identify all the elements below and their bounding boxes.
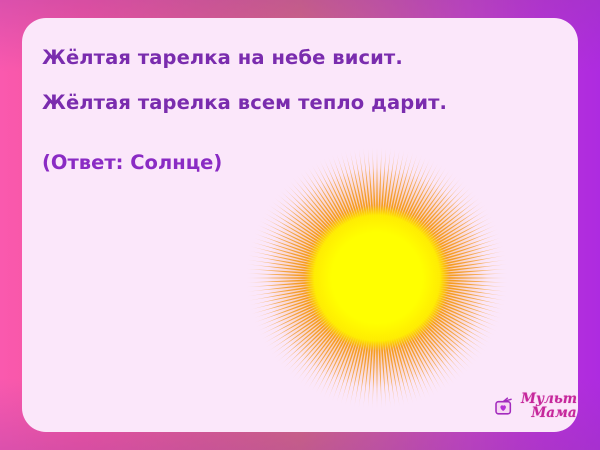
tv-heart-icon [494, 396, 516, 418]
logo-wordmark: Мульти Мама [521, 393, 578, 421]
riddle-line-2: Жёлтая тарелка всем тепло дарит. [42, 93, 512, 113]
content-card: Жёлтая тарелка на небе висит. Жёлтая тар… [22, 18, 578, 432]
riddle-text-block: Жёлтая тарелка на небе висит. Жёлтая тар… [42, 48, 512, 173]
logo-word-2: Мама [531, 407, 576, 421]
riddle-line-1: Жёлтая тарелка на небе висит. [42, 48, 512, 68]
riddle-card-image: Жёлтая тарелка на небе висит. Жёлтая тар… [0, 0, 600, 450]
riddle-answer: (Ответ: Солнце) [42, 153, 512, 173]
sun-illustration [245, 145, 509, 411]
brand-logo[interactable]: Мульти Мама [494, 386, 572, 428]
